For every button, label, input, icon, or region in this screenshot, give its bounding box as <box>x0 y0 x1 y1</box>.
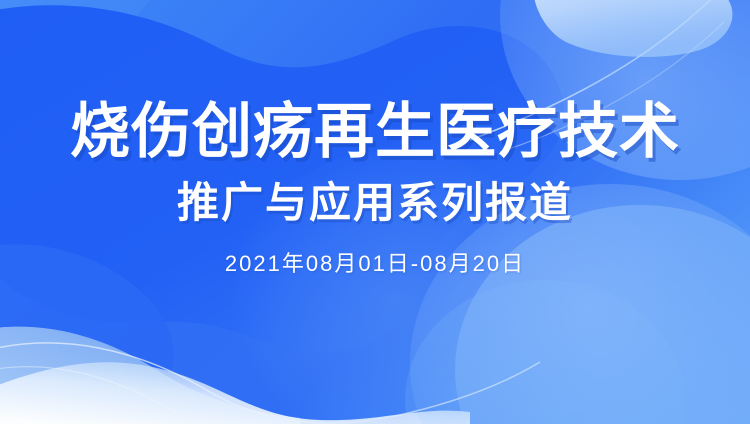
promo-banner: 烧伤创疡再生医疗技术 推广与应用系列报道 2021年08月01日-08月20日 <box>0 0 750 424</box>
banner-title: 烧伤创疡再生医疗技术 <box>70 98 680 165</box>
banner-text-block: 烧伤创疡再生医疗技术 推广与应用系列报道 2021年08月01日-08月20日 <box>0 0 750 424</box>
banner-subtitle: 推广与应用系列报道 <box>177 179 573 227</box>
banner-date-range: 2021年08月01日-08月20日 <box>225 251 525 277</box>
